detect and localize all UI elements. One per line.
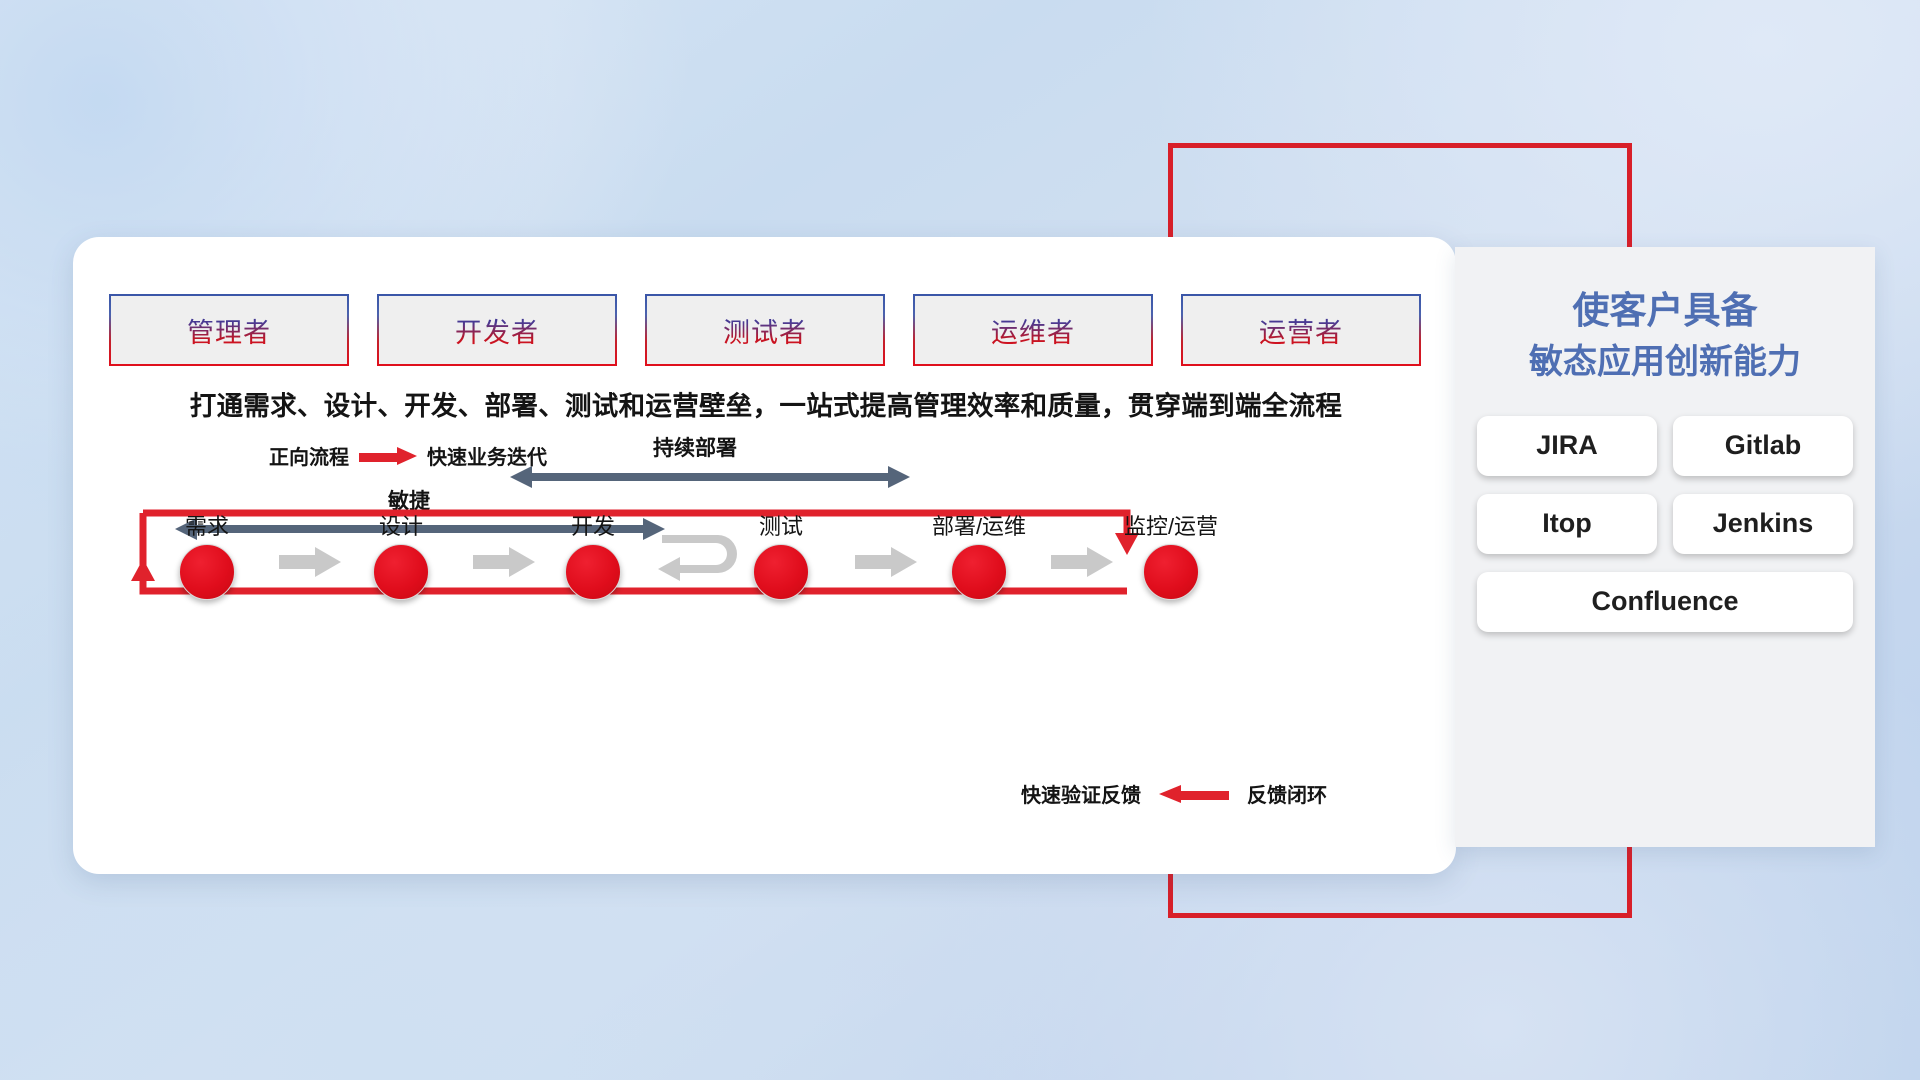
stage-dot-icon <box>753 544 809 600</box>
stage-label: 监控/运营 <box>1111 509 1231 541</box>
tool-pill-gitlab[interactable]: Gitlab <box>1673 416 1853 476</box>
tool-pill-itop[interactable]: Itop <box>1477 494 1657 554</box>
stage-label: 设计 <box>341 509 461 541</box>
red-arrow-right-icon <box>359 450 417 462</box>
stage-label: 需求 <box>147 509 267 541</box>
role-box-ops[interactable]: 运维者 <box>913 294 1153 366</box>
pipeline-stage-test[interactable]: 测试 <box>721 509 841 600</box>
gray-arrow-2-icon <box>473 545 535 579</box>
slide-canvas: 管理者 开发者 测试者 运维者 运营者 打通需求、设计、开发、部署、测试和运营壁… <box>0 0 1920 1080</box>
tool-label: JIRA <box>1536 430 1598 461</box>
tool-label: Confluence <box>1591 586 1738 617</box>
pipeline-stage-develop[interactable]: 开发 <box>533 509 653 600</box>
legend-forward-flow: 正向流程 快速业务迭代 <box>269 441 547 470</box>
main-content-card: 管理者 开发者 测试者 运维者 运营者 打通需求、设计、开发、部署、测试和运营壁… <box>73 237 1456 874</box>
tool-label: Itop <box>1542 508 1591 539</box>
gray-arrow-1-icon <box>279 545 341 579</box>
role-box-manager[interactable]: 管理者 <box>109 294 349 366</box>
double-arrow-continuous-deployment-icon <box>510 466 910 488</box>
stage-label: 部署/运维 <box>919 509 1039 541</box>
role-box-developer[interactable]: 开发者 <box>377 294 617 366</box>
stage-dot-icon <box>951 544 1007 600</box>
pipeline-stage-deploy-ops[interactable]: 部署/运维 <box>919 509 1039 600</box>
tool-label: Jenkins <box>1713 508 1814 539</box>
stage-dot-icon <box>1143 544 1199 600</box>
stage-dot-icon <box>179 544 235 600</box>
pipeline-stage-design[interactable]: 设计 <box>341 509 461 600</box>
role-label: 管理者 <box>187 311 271 350</box>
tool-pill-jira[interactable]: JIRA <box>1477 416 1657 476</box>
span-label-continuous-deployment: 持续部署 <box>653 432 737 462</box>
pipeline-stage-monitor-operations[interactable]: 监控/运营 <box>1111 509 1231 600</box>
stage-dot-icon <box>565 544 621 600</box>
red-arrow-left-icon <box>1159 788 1229 800</box>
stage-label: 测试 <box>721 509 841 541</box>
legend-feedback-source-label: 反馈闭环 <box>1247 779 1327 808</box>
outcome-heading-line-1: 使客户具备 <box>1455 285 1875 338</box>
role-label: 测试者 <box>723 311 807 350</box>
role-label: 运维者 <box>991 311 1075 350</box>
role-label: 运营者 <box>1259 311 1343 350</box>
legend-feedback-loop: 快速验证反馈 反馈闭环 <box>1021 779 1327 808</box>
tool-pill-confluence[interactable]: Confluence <box>1477 572 1853 632</box>
tool-label: Gitlab <box>1725 430 1802 461</box>
role-box-row: 管理者 开发者 测试者 运维者 运营者 <box>109 294 1421 366</box>
outcome-panel: 使客户具备 敏态应用创新能力 JIRA Gitlab Itop Jenkins … <box>1455 247 1875 847</box>
stage-dot-icon <box>373 544 429 600</box>
devops-pipeline: 需求 设计 开发 测试 <box>103 509 1425 639</box>
legend-forward-source-label: 正向流程 <box>269 441 349 470</box>
tool-pill-jenkins[interactable]: Jenkins <box>1673 494 1853 554</box>
role-box-operations[interactable]: 运营者 <box>1181 294 1421 366</box>
tool-list: JIRA Gitlab Itop Jenkins Confluence <box>1477 416 1853 632</box>
description-text: 打通需求、设计、开发、部署、测试和运营壁垒，一站式提高管理效率和质量，贯穿端到端… <box>111 384 1421 423</box>
stage-label: 开发 <box>533 509 653 541</box>
role-label: 开发者 <box>455 311 539 350</box>
gray-arrow-3-icon <box>855 545 917 579</box>
gray-arrow-4-icon <box>1051 545 1113 579</box>
role-box-tester[interactable]: 测试者 <box>645 294 885 366</box>
pipeline-stage-requirement[interactable]: 需求 <box>147 509 267 600</box>
outcome-panel-heading: 使客户具备 敏态应用创新能力 <box>1455 285 1875 386</box>
legend-feedback-target-label: 快速验证反馈 <box>1021 779 1141 808</box>
outcome-heading-line-2: 敏态应用创新能力 <box>1455 338 1875 386</box>
